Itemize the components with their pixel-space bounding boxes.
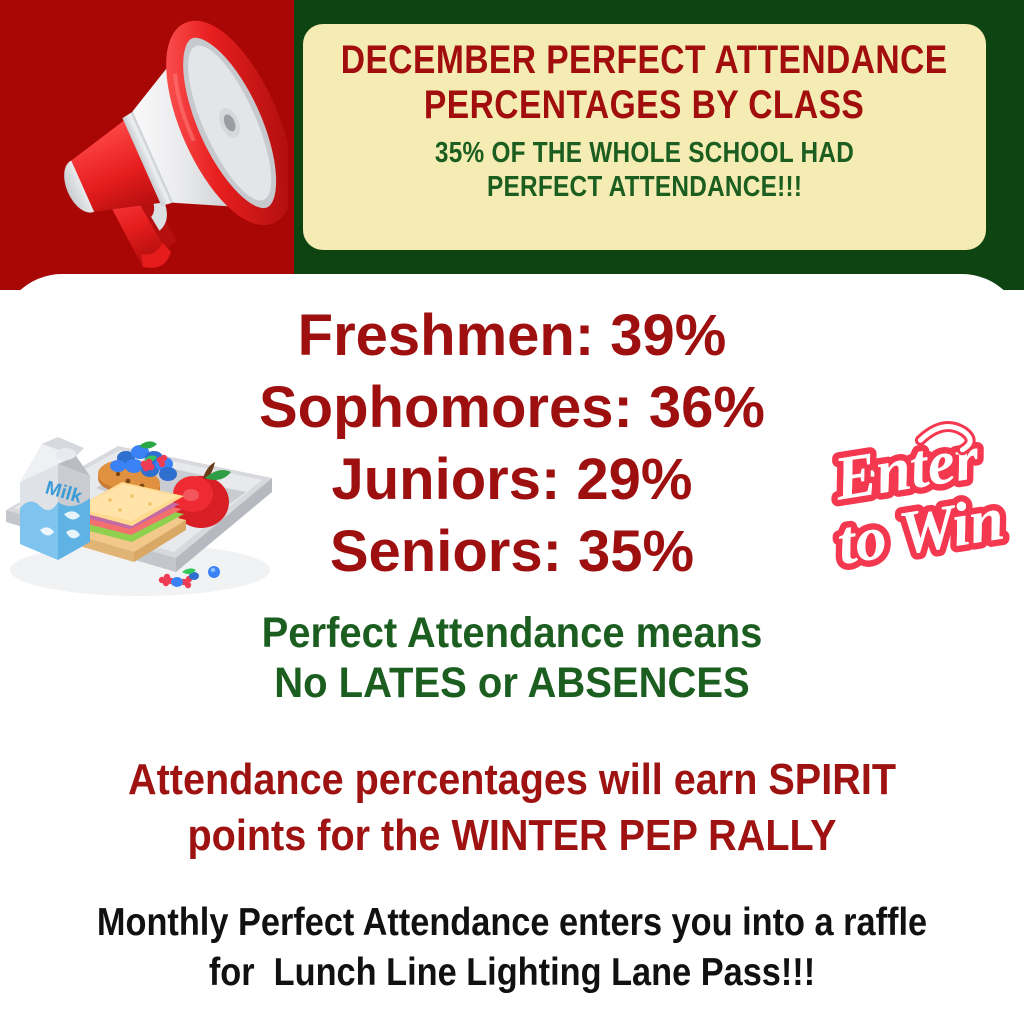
attendance-percentage-list: Freshmen: 39% Sophomores: 36% Juniors: 2… xyxy=(182,300,842,588)
stat-row-juniors: Juniors: 29% xyxy=(182,444,842,516)
stat-row-seniors: Seniors: 35% xyxy=(182,516,842,588)
stat-row-sophomores: Sophomores: 36% xyxy=(182,372,842,444)
headline-card: DECEMBER PERFECT ATTENDANCE PERCENTAGES … xyxy=(303,24,986,250)
megaphone-icon xyxy=(18,14,288,276)
raffle-line-2: for Lunch Line Lighting Lane Pass!!! xyxy=(81,948,943,998)
definition-line-1: Perfect Attendance means xyxy=(149,608,874,658)
subtitle-line-2: PERFECT ATTENDANCE!!! xyxy=(487,170,802,204)
enter-to-win-badge: Enter Enter to Win to Win xyxy=(812,412,1017,592)
headline-line-1: DECEMBER PERFECT ATTENDANCE xyxy=(341,38,948,83)
headline-line-2: PERCENTAGES BY CLASS xyxy=(424,83,864,128)
definition-block: Perfect Attendance means No LATES or ABS… xyxy=(122,608,902,708)
raffle-block: Monthly Perfect Attendance enters you in… xyxy=(22,898,1002,998)
definition-line-2: No LATES or ABSENCES xyxy=(149,658,874,708)
spirit-line-2: points for the WINTER PEP RALLY xyxy=(89,808,935,864)
spirit-points-block: Attendance percentages will earn SPIRIT … xyxy=(42,752,982,864)
poster-canvas: DECEMBER PERFECT ATTENDANCE PERCENTAGES … xyxy=(0,0,1024,1024)
spirit-line-1: Attendance percentages will earn SPIRIT xyxy=(89,752,935,808)
stat-row-freshmen: Freshmen: 39% xyxy=(182,300,842,372)
raffle-line-1: Monthly Perfect Attendance enters you in… xyxy=(81,898,943,948)
subtitle-line-1: 35% OF THE WHOLE SCHOOL HAD xyxy=(435,136,854,170)
